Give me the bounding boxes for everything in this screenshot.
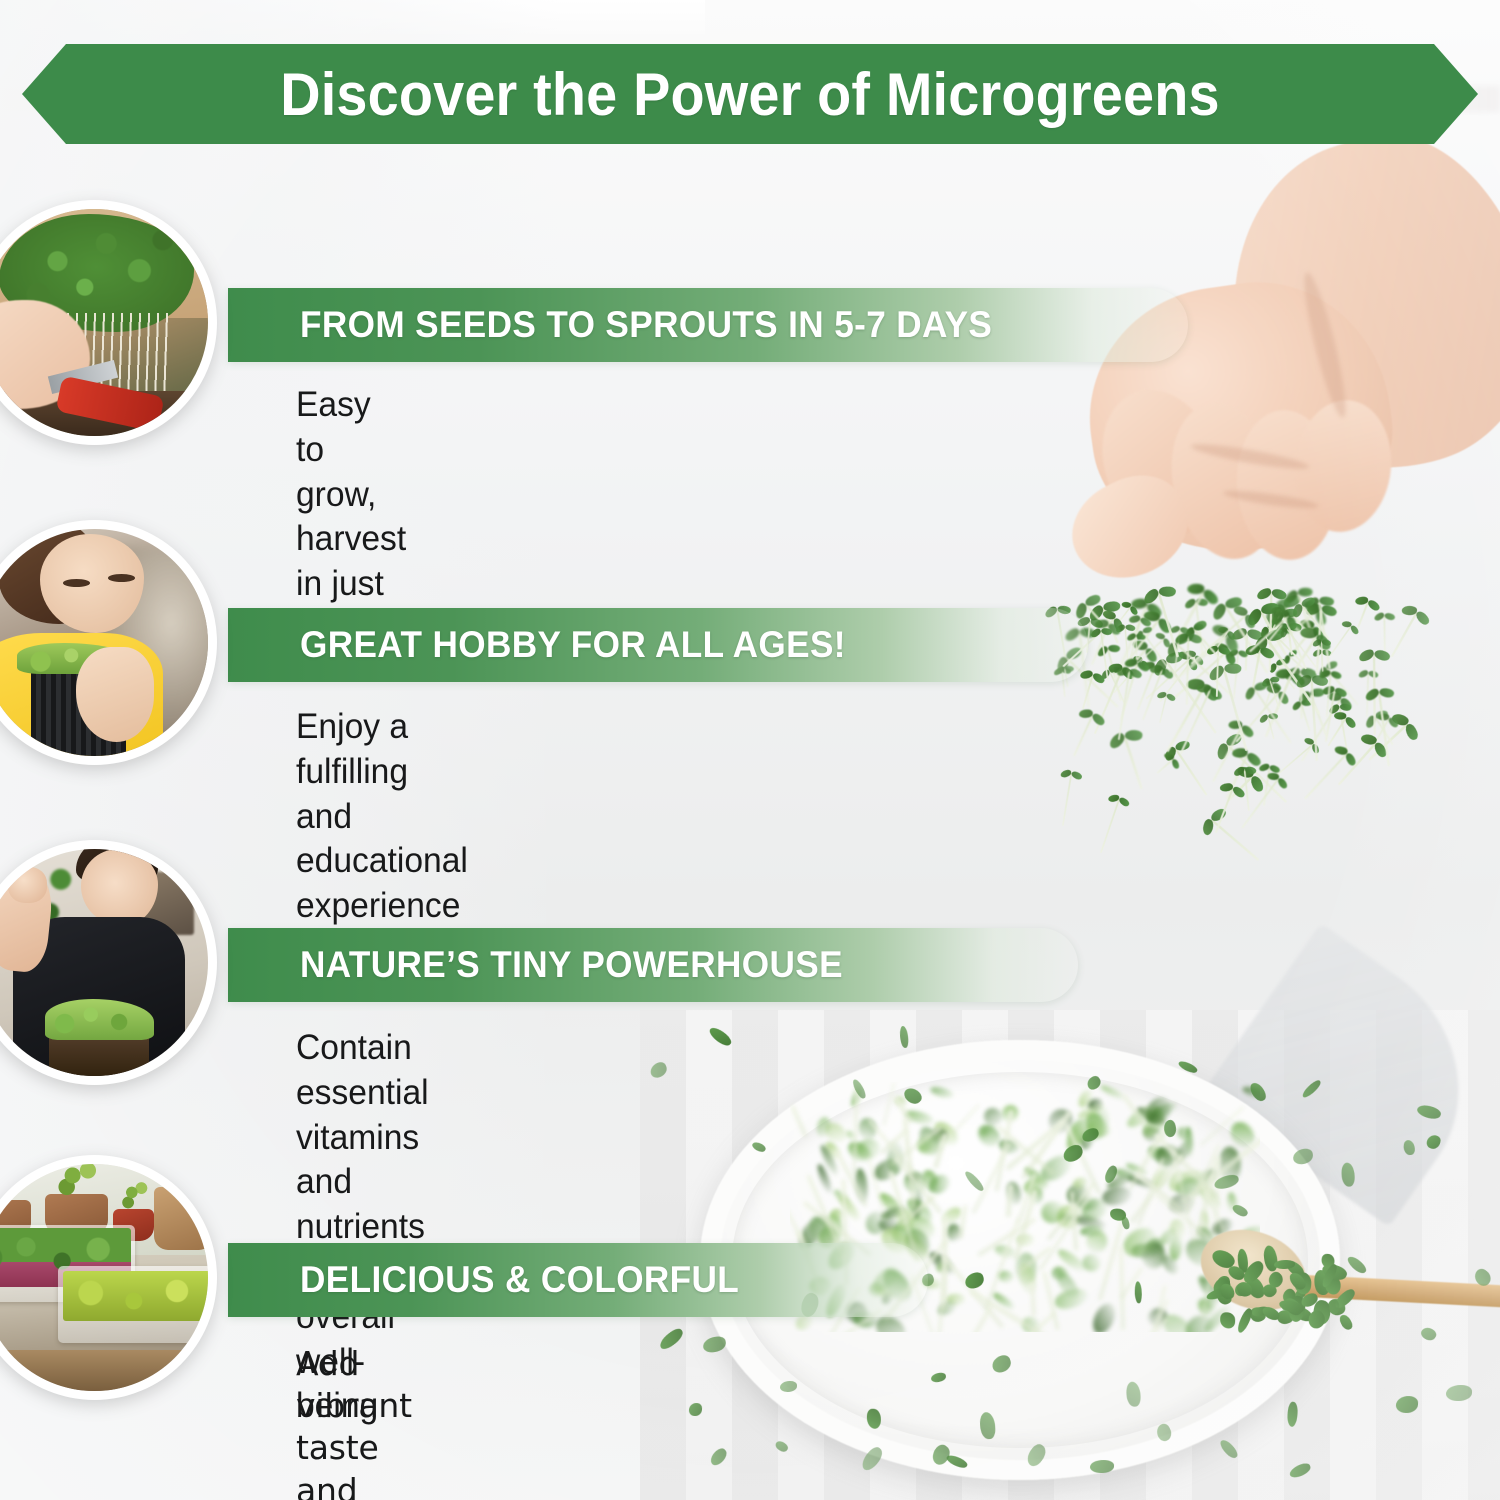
scattered-microgreen [1300, 1078, 1322, 1099]
arm [76, 647, 153, 742]
falling-microgreens-cluster [1055, 595, 1415, 875]
scattered-microgreen [931, 1372, 947, 1383]
scattered-microgreen [1286, 1401, 1299, 1427]
scattered-microgreen [1445, 1385, 1472, 1402]
scattered-microgreen [702, 1336, 727, 1355]
scattered-microgreen [1213, 1173, 1240, 1190]
scattered-microgreen [773, 1439, 789, 1455]
page-title: Discover the Power of Microgreens [73, 44, 1427, 144]
feature-heading: FROM SEEDS TO SPROUTS IN 5-7 DAYS [300, 288, 992, 362]
scattered-microgreen [1154, 1421, 1174, 1442]
scattered-microgreen [1328, 1299, 1339, 1314]
scattered-microgreen [1248, 1081, 1268, 1104]
feature-thumbnail [0, 520, 217, 765]
hand-dropping-microgreens-photo [985, 150, 1500, 930]
scattered-microgreen [708, 1446, 730, 1467]
scattered-microgreen [780, 1381, 798, 1392]
feature-heading: NATURE’S TINY POWERHOUSE [300, 928, 843, 1002]
scattered-microgreen [1084, 1074, 1102, 1092]
scattered-microgreen [1163, 1119, 1178, 1138]
title-banner: Discover the Power of Microgreens [22, 44, 1478, 144]
floor [0, 1350, 208, 1391]
scattered-microgreen [1396, 1395, 1419, 1413]
microgreen-sprout [1131, 635, 1143, 660]
scattered-microgreen [979, 1412, 996, 1440]
microgreen-sprout [1316, 641, 1329, 672]
scattered-microgreen [899, 1025, 909, 1048]
scattered-microgreen [1218, 1437, 1239, 1460]
scattered-microgreen [1425, 1133, 1443, 1151]
scattered-microgreen [902, 1085, 924, 1107]
feature-heading: DELICIOUS & COLORFUL [300, 1243, 739, 1317]
scattered-microgreen [1134, 1281, 1141, 1304]
microgreen-sprout [1094, 796, 1125, 855]
fist [8, 867, 47, 903]
scattered-microgreen [1419, 1325, 1438, 1344]
feature-heading: GREAT HOBBY FOR ALL AGES! [300, 608, 846, 682]
colorful-microgreens-trays-photo [0, 1164, 208, 1391]
microgreen-sprout [1115, 732, 1153, 792]
scattered-microgreen [990, 1354, 1013, 1375]
scattered-microgreen [751, 1140, 767, 1154]
feature-thumbnail [0, 840, 217, 1085]
scattered-microgreen [648, 1060, 669, 1080]
feature-thumbnail [0, 1155, 217, 1400]
scattered-microgreen [867, 1410, 881, 1430]
scattered-microgreen [1287, 1461, 1311, 1479]
scattered-microgreen [852, 1078, 868, 1100]
scattered-microgreen [1178, 1059, 1199, 1075]
scattered-microgreen [1126, 1382, 1141, 1407]
scattered-microgreen [1231, 1202, 1249, 1219]
scattered-microgreen [1415, 1103, 1442, 1122]
scattered-microgreen [1090, 1460, 1115, 1474]
scattered-microgreen [1081, 1127, 1101, 1144]
scattered-microgreen [963, 1169, 985, 1193]
infographic-canvas: Discover the Power of Microgreens FROM S… [0, 0, 1500, 1500]
scattered-microgreen [1121, 1216, 1131, 1230]
scattered-microgreen [707, 1025, 733, 1049]
scattered-microgreen [689, 1402, 702, 1416]
man-flexing-holding-microgreens-photo [0, 849, 208, 1076]
scattered-microgreen [929, 1442, 953, 1467]
scattered-microgreen [1023, 1442, 1048, 1469]
hand-harvesting-microgreens-with-scissors-photo [0, 209, 208, 436]
feature-subtext: Enjoy a fulfilling and educational exper… [296, 705, 468, 929]
scattered-microgreen [964, 1271, 987, 1291]
girl-holding-microgreens-tray-photo [0, 529, 208, 756]
microgreen-sprout [1066, 711, 1100, 760]
feature-thumbnail [0, 200, 217, 445]
scattered-microgreen [1341, 1163, 1355, 1187]
scattered-microgreen [1346, 1253, 1369, 1275]
scattered-microgreen [1102, 1163, 1120, 1184]
yellow-green-microgreens [63, 1271, 208, 1321]
scattered-microgreen [1403, 1139, 1415, 1155]
feature-subtext: Add vibrant taste and color to your meal… [296, 1343, 412, 1500]
scattered-microgreen [1061, 1143, 1085, 1164]
scattered-microgreen [859, 1445, 886, 1473]
scattered-microgreen [657, 1326, 686, 1352]
scattered-microgreen [1472, 1267, 1494, 1289]
scattered-microgreen [1292, 1147, 1314, 1164]
microgreen-sprout [1057, 772, 1079, 827]
